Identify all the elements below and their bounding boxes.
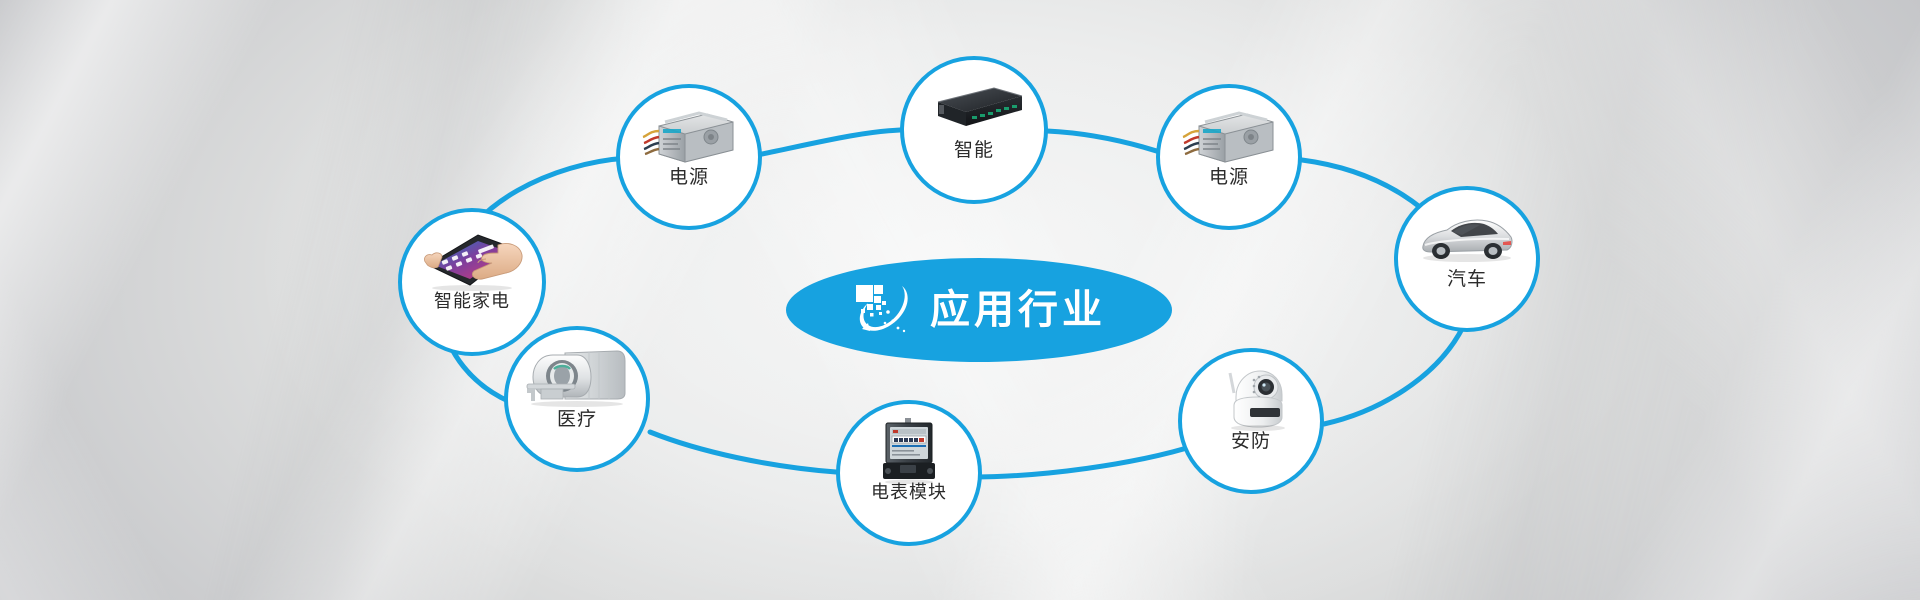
orbit-pixel-swoosh-logo xyxy=(852,279,914,341)
node-label: 汽车 xyxy=(1447,270,1487,289)
node-medical[interactable]: 医疗 xyxy=(504,326,650,472)
application-industries-banner: 电源 xyxy=(0,0,1920,600)
node-power-left[interactable]: 电源 xyxy=(616,84,762,230)
connector-security-meter xyxy=(972,444,1200,477)
node-meter-module[interactable]: 电表模块 xyxy=(836,400,982,546)
connector-powerleft-smart xyxy=(762,130,900,154)
center-badge[interactable]: 应用行业 xyxy=(786,258,1172,362)
node-smart[interactable]: 智能 xyxy=(900,56,1048,204)
node-label: 智能家电 xyxy=(434,293,510,311)
node-automotive[interactable]: 汽车 xyxy=(1394,186,1540,332)
node-label: 安防 xyxy=(1231,432,1271,451)
node-power-right[interactable]: 电源 xyxy=(1156,84,1302,230)
node-label: 电表模块 xyxy=(871,484,947,502)
node-smart-home[interactable]: 智能家电 xyxy=(398,208,546,356)
connector-automotive-security xyxy=(1324,327,1463,424)
node-security[interactable]: 安防 xyxy=(1178,348,1324,494)
node-label: 医疗 xyxy=(557,410,597,429)
node-label: 电源 xyxy=(1209,168,1249,187)
node-label: 智能 xyxy=(954,141,994,160)
connector-smart-powerright xyxy=(1047,131,1172,156)
connector-meter-medical xyxy=(650,432,836,472)
node-label: 电源 xyxy=(669,168,709,187)
badge-title: 应用行业 xyxy=(930,290,1106,330)
